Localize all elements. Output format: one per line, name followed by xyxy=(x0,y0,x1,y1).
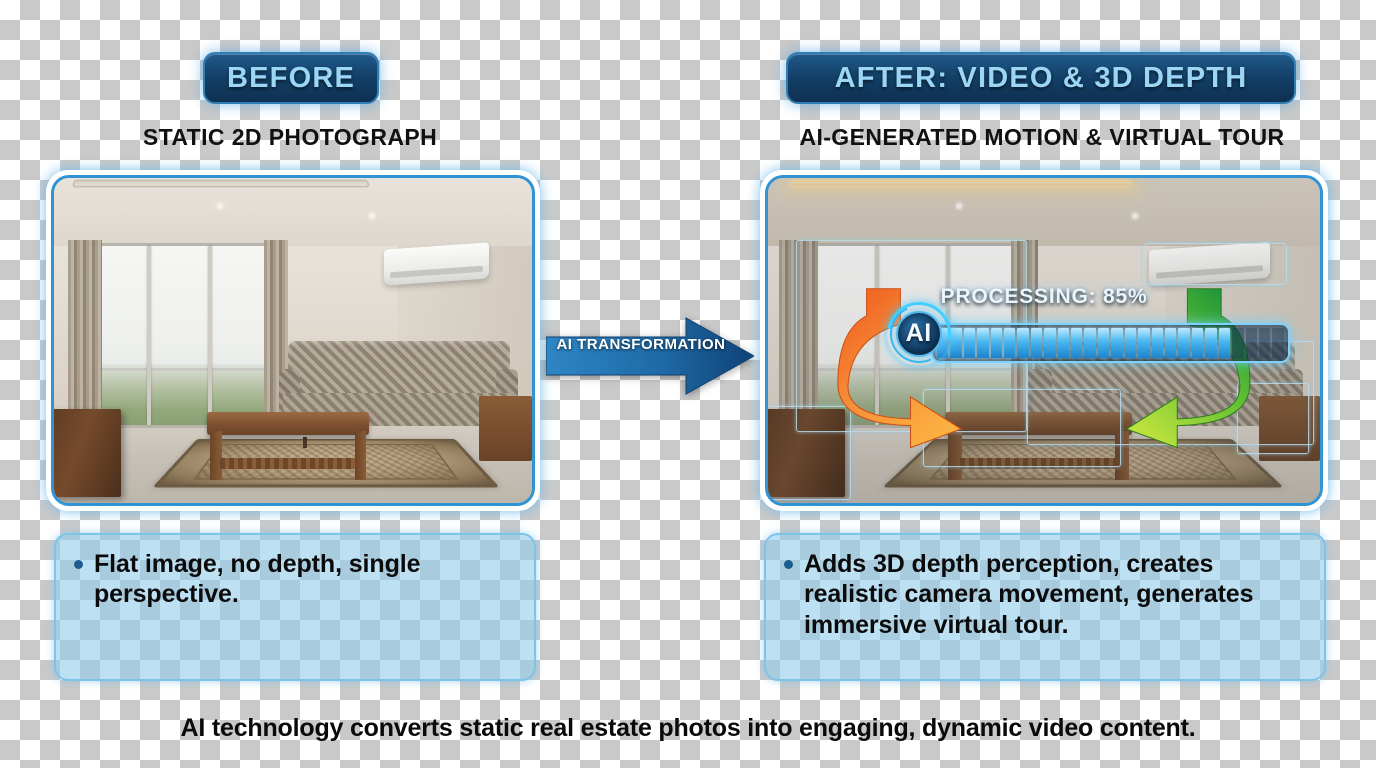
progress-segment xyxy=(1017,328,1028,359)
before-subtitle: STATIC 2D PHOTOGRAPH xyxy=(0,124,580,151)
progress-segment xyxy=(964,328,975,359)
processing-progress-bar xyxy=(931,323,1290,364)
before-bullet-row: Flat image, no depth, single perspective… xyxy=(74,549,516,610)
after-badge-label: AFTER: VIDEO & 3D DEPTH xyxy=(835,62,1248,95)
ai-overlay: PROCESSING: 85% AI xyxy=(768,178,1320,503)
ai-badge-label: AI xyxy=(906,319,932,348)
progress-segment xyxy=(1125,328,1136,359)
progress-segment xyxy=(977,328,988,359)
before-photo xyxy=(54,178,532,503)
window-mullion xyxy=(147,246,151,425)
before-caption-text: Flat image, no depth, single perspective… xyxy=(94,549,516,610)
infographic-canvas: BEFORE STATIC 2D PHOTOGRAPH xyxy=(0,0,1376,768)
bottom-caption: AI technology converts static real estat… xyxy=(0,714,1376,743)
before-photo-frame xyxy=(46,170,540,511)
progress-segment xyxy=(1071,328,1082,359)
curtain-left xyxy=(68,240,101,435)
after-subtitle: AI-GENERATED MOTION & VIRTUAL TOUR xyxy=(762,124,1322,151)
after-caption-box: Adds 3D depth perception, creates realis… xyxy=(764,533,1326,681)
after-photo: PROCESSING: 85% AI xyxy=(768,178,1320,503)
after-photo-frame: PROCESSING: 85% AI xyxy=(760,170,1328,511)
progress-segment xyxy=(991,328,1002,359)
progress-segment xyxy=(1152,328,1163,359)
progress-segment xyxy=(1232,328,1243,359)
ai-badge: AI xyxy=(887,302,951,366)
coffee-table-leg xyxy=(210,431,221,480)
progress-segment xyxy=(1058,328,1069,359)
ceiling-tray xyxy=(72,180,370,188)
balcony-rail xyxy=(86,368,271,371)
coffee-table-shelf xyxy=(220,458,357,470)
before-badge-label: BEFORE xyxy=(227,62,355,95)
progress-segment xyxy=(1084,328,1095,359)
progress-segment xyxy=(1138,328,1149,359)
coffee-table xyxy=(207,412,370,480)
ceiling-light-icon xyxy=(369,213,375,219)
before-photo-inner xyxy=(51,175,535,506)
ai-disc: AI xyxy=(896,311,942,357)
bullet-dot-icon xyxy=(784,560,793,569)
wood-cabinet xyxy=(54,409,121,497)
processing-status-label: PROCESSING: 85% xyxy=(768,285,1320,309)
progress-segment xyxy=(1219,328,1230,359)
arrow-right-icon xyxy=(546,316,754,396)
progress-segment xyxy=(1246,328,1257,359)
progress-segment xyxy=(950,328,961,359)
progress-segment xyxy=(1044,328,1055,359)
progress-segment xyxy=(1031,328,1042,359)
ceiling-light-icon xyxy=(217,203,223,209)
progress-segment xyxy=(1192,328,1203,359)
progress-segment xyxy=(1178,328,1189,359)
progress-segment xyxy=(1111,328,1122,359)
progress-segment xyxy=(1004,328,1015,359)
sliding-window xyxy=(83,243,274,428)
side-table xyxy=(479,396,532,461)
after-bullet-row: Adds 3D depth perception, creates realis… xyxy=(784,549,1306,640)
after-photo-inner: PROCESSING: 85% AI xyxy=(765,175,1323,506)
progress-segment xyxy=(1165,328,1176,359)
coffee-table-top xyxy=(207,412,370,435)
coffee-table-leg xyxy=(355,431,366,480)
progress-segment xyxy=(1259,328,1270,359)
ceiling xyxy=(54,178,532,246)
progress-segment xyxy=(1205,328,1216,359)
before-badge: BEFORE xyxy=(203,52,379,104)
after-caption-text: Adds 3D depth perception, creates realis… xyxy=(804,549,1306,640)
window-mullion xyxy=(208,246,212,425)
living-room-scene-static xyxy=(54,178,532,503)
after-badge: AFTER: VIDEO & 3D DEPTH xyxy=(786,52,1296,104)
ac-vent xyxy=(390,266,483,279)
progress-segment xyxy=(1098,328,1109,359)
progress-segment xyxy=(1272,328,1283,359)
bullet-dot-icon xyxy=(74,560,83,569)
before-caption-box: Flat image, no depth, single perspective… xyxy=(54,533,536,681)
